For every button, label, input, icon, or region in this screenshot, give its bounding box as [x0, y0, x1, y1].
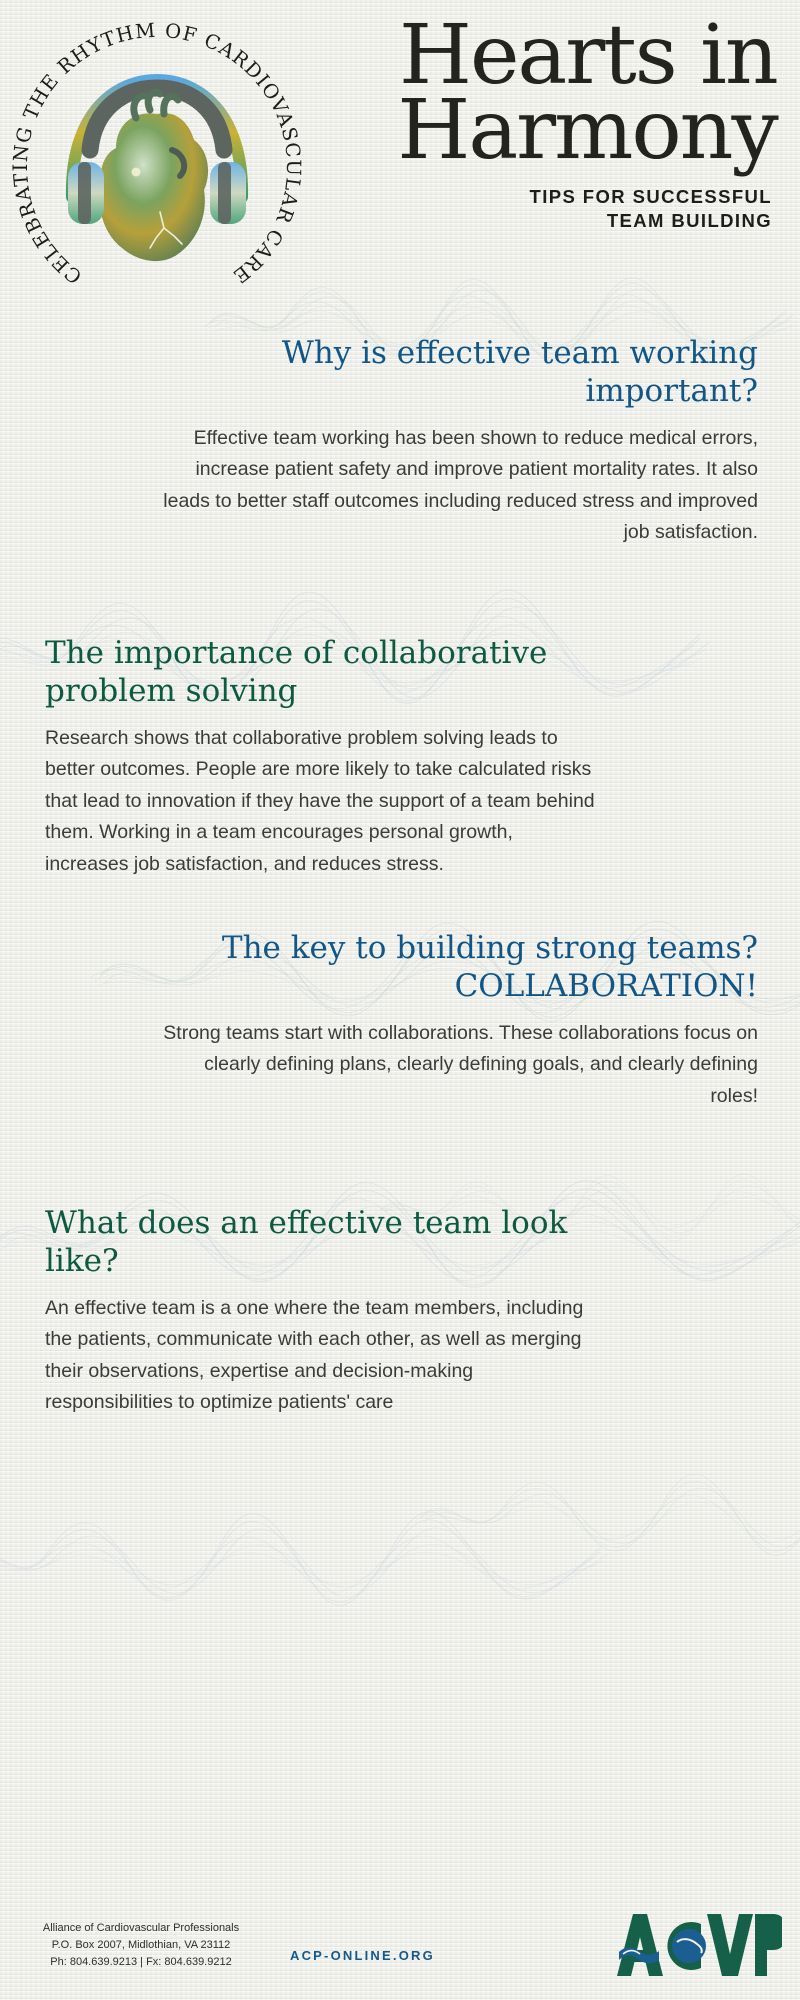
- title-line-2: Harmony: [295, 93, 776, 168]
- section-heading: What does an effective team look like?: [45, 1205, 585, 1281]
- section-effective-team-look-like: What does an effective team look like? A…: [0, 1205, 800, 1419]
- title-line-1: Hearts in: [295, 18, 776, 93]
- section-heading: The key to building strong teams? COLLAB…: [160, 930, 758, 1006]
- logo-letter-a: [617, 1914, 663, 1976]
- circular-badge-logo: CELEBRATING THE RHYTHM OF CARDIOVASCULAR…: [12, 22, 302, 312]
- subtitle-line-1: TIPS FOR SUCCESSFUL: [300, 185, 772, 209]
- section-body: Research shows that collaborative proble…: [45, 723, 600, 881]
- logo-letters-vp: [707, 1914, 782, 1976]
- header: CELEBRATING THE RHYTHM OF CARDIOVASCULAR…: [0, 0, 800, 300]
- section-why-effective-team-working: Why is effective team working important?…: [0, 335, 800, 549]
- anatomical-heart-illustration: [100, 92, 208, 261]
- title-block: Hearts in Harmony TIPS FOR SUCCESSFUL TE…: [300, 18, 790, 234]
- section-heading: The importance of collaborative problem …: [45, 635, 600, 711]
- subtitle-line-2: TEAM BUILDING: [300, 209, 772, 233]
- page-subtitle: TIPS FOR SUCCESSFUL TEAM BUILDING: [300, 185, 772, 234]
- footer: Alliance of Cardiovascular Professionals…: [0, 1890, 800, 2000]
- footer-website-link[interactable]: ACP-ONLINE.ORG: [290, 1948, 435, 1963]
- footer-address-block: Alliance of Cardiovascular Professionals…: [6, 1920, 276, 1971]
- logo-letter-c: [667, 1922, 706, 1970]
- section-body: Effective team working has been shown to…: [150, 423, 758, 549]
- badge-svg: CELEBRATING THE RHYTHM OF CARDIOVASCULAR…: [12, 22, 302, 312]
- section-body: An effective team is a one where the tea…: [45, 1293, 585, 1419]
- section-body: Strong teams start with collaborations. …: [160, 1018, 758, 1113]
- footer-org-name: Alliance of Cardiovascular Professionals: [6, 1920, 276, 1937]
- footer-address: P.O. Box 2007, Midlothian, VA 23112: [6, 1937, 276, 1954]
- section-collaborative-problem-solving: The importance of collaborative problem …: [0, 635, 800, 881]
- footer-contact: Ph: 804.639.9213 | Fx: 804.639.9212: [6, 1954, 276, 1971]
- page-title: Hearts in Harmony: [295, 18, 776, 169]
- section-key-to-strong-teams: The key to building strong teams? COLLAB…: [0, 930, 800, 1112]
- section-heading: Why is effective team working important?: [150, 335, 758, 411]
- acvp-logo: [597, 1908, 782, 1980]
